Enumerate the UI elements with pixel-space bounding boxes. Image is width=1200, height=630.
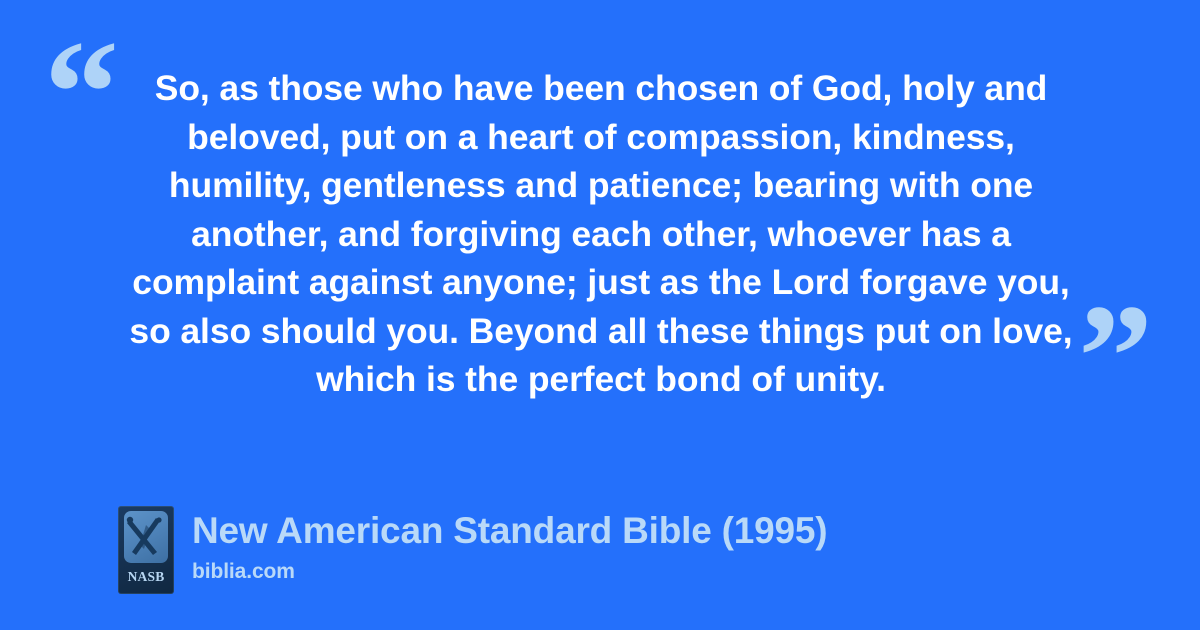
quote-card: “ So, as those who have been chosen of G… (0, 0, 1200, 630)
source-site-link[interactable]: biblia.com (192, 558, 827, 586)
footer-text-block: New American Standard Bible (1995) bibli… (192, 506, 827, 586)
logo-label: NASB (118, 569, 174, 585)
quote-container: So, as those who have been chosen of God… (128, 64, 1074, 404)
nasb-logo: NASB (118, 506, 174, 594)
quote-text: So, as those who have been chosen of God… (128, 64, 1074, 404)
opening-quote-icon: “ (44, 18, 119, 168)
closing-quote-icon: ” (1078, 282, 1153, 432)
cross-sword-icon (124, 511, 168, 563)
bible-version-title: New American Standard Bible (1995) (192, 508, 827, 554)
footer-attribution: NASB New American Standard Bible (1995) … (118, 506, 827, 594)
